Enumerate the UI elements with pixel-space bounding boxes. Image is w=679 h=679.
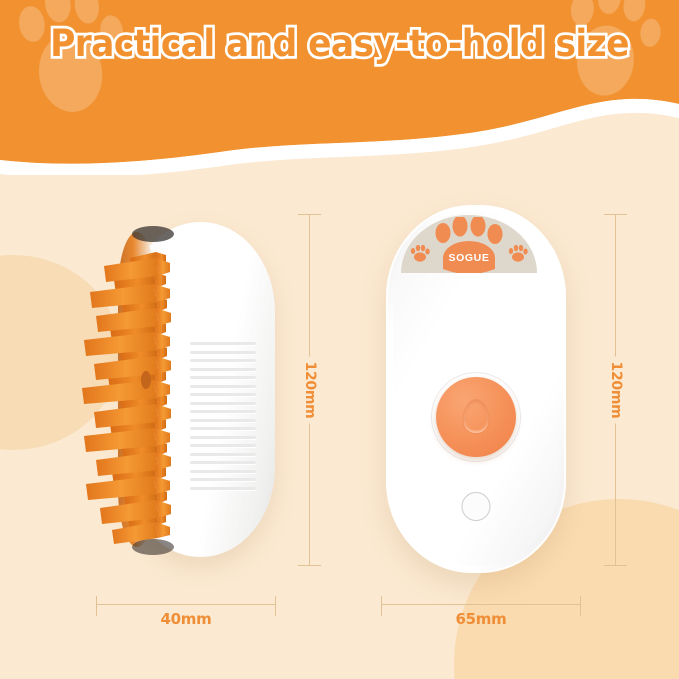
brush-side-view <box>70 222 275 557</box>
dimension-right-width-label: 65mm <box>456 610 507 628</box>
brush-bristles <box>70 222 275 557</box>
paw-pad-icon <box>463 399 490 434</box>
dimension-right-height: 120mm <box>601 214 631 566</box>
product-infographic: Practical and easy-to-hold size <box>0 0 679 679</box>
page-title: Practical and easy-to-hold size <box>24 22 655 65</box>
paw-print-icon <box>423 217 515 273</box>
indicator-circle-icon <box>462 492 491 521</box>
power-button[interactable] <box>436 377 516 457</box>
dimension-left-height-label: 120mm <box>300 357 320 424</box>
dimension-right-width: 65mm <box>381 596 581 626</box>
dimension-left-width: 40mm <box>96 596 276 626</box>
dimension-left-width-label: 40mm <box>161 610 212 628</box>
dimension-right-height-label: 120mm <box>606 357 626 424</box>
product-stage: SOGUE 120mm 120mm 40mm <box>0 0 679 679</box>
brand-name: SOGUE <box>449 252 490 264</box>
paw-print-small-icon <box>410 245 430 262</box>
brush-top-view: SOGUE <box>386 205 566 573</box>
paw-print-small-icon <box>508 245 528 262</box>
dimension-left-height: 120mm <box>295 214 325 566</box>
